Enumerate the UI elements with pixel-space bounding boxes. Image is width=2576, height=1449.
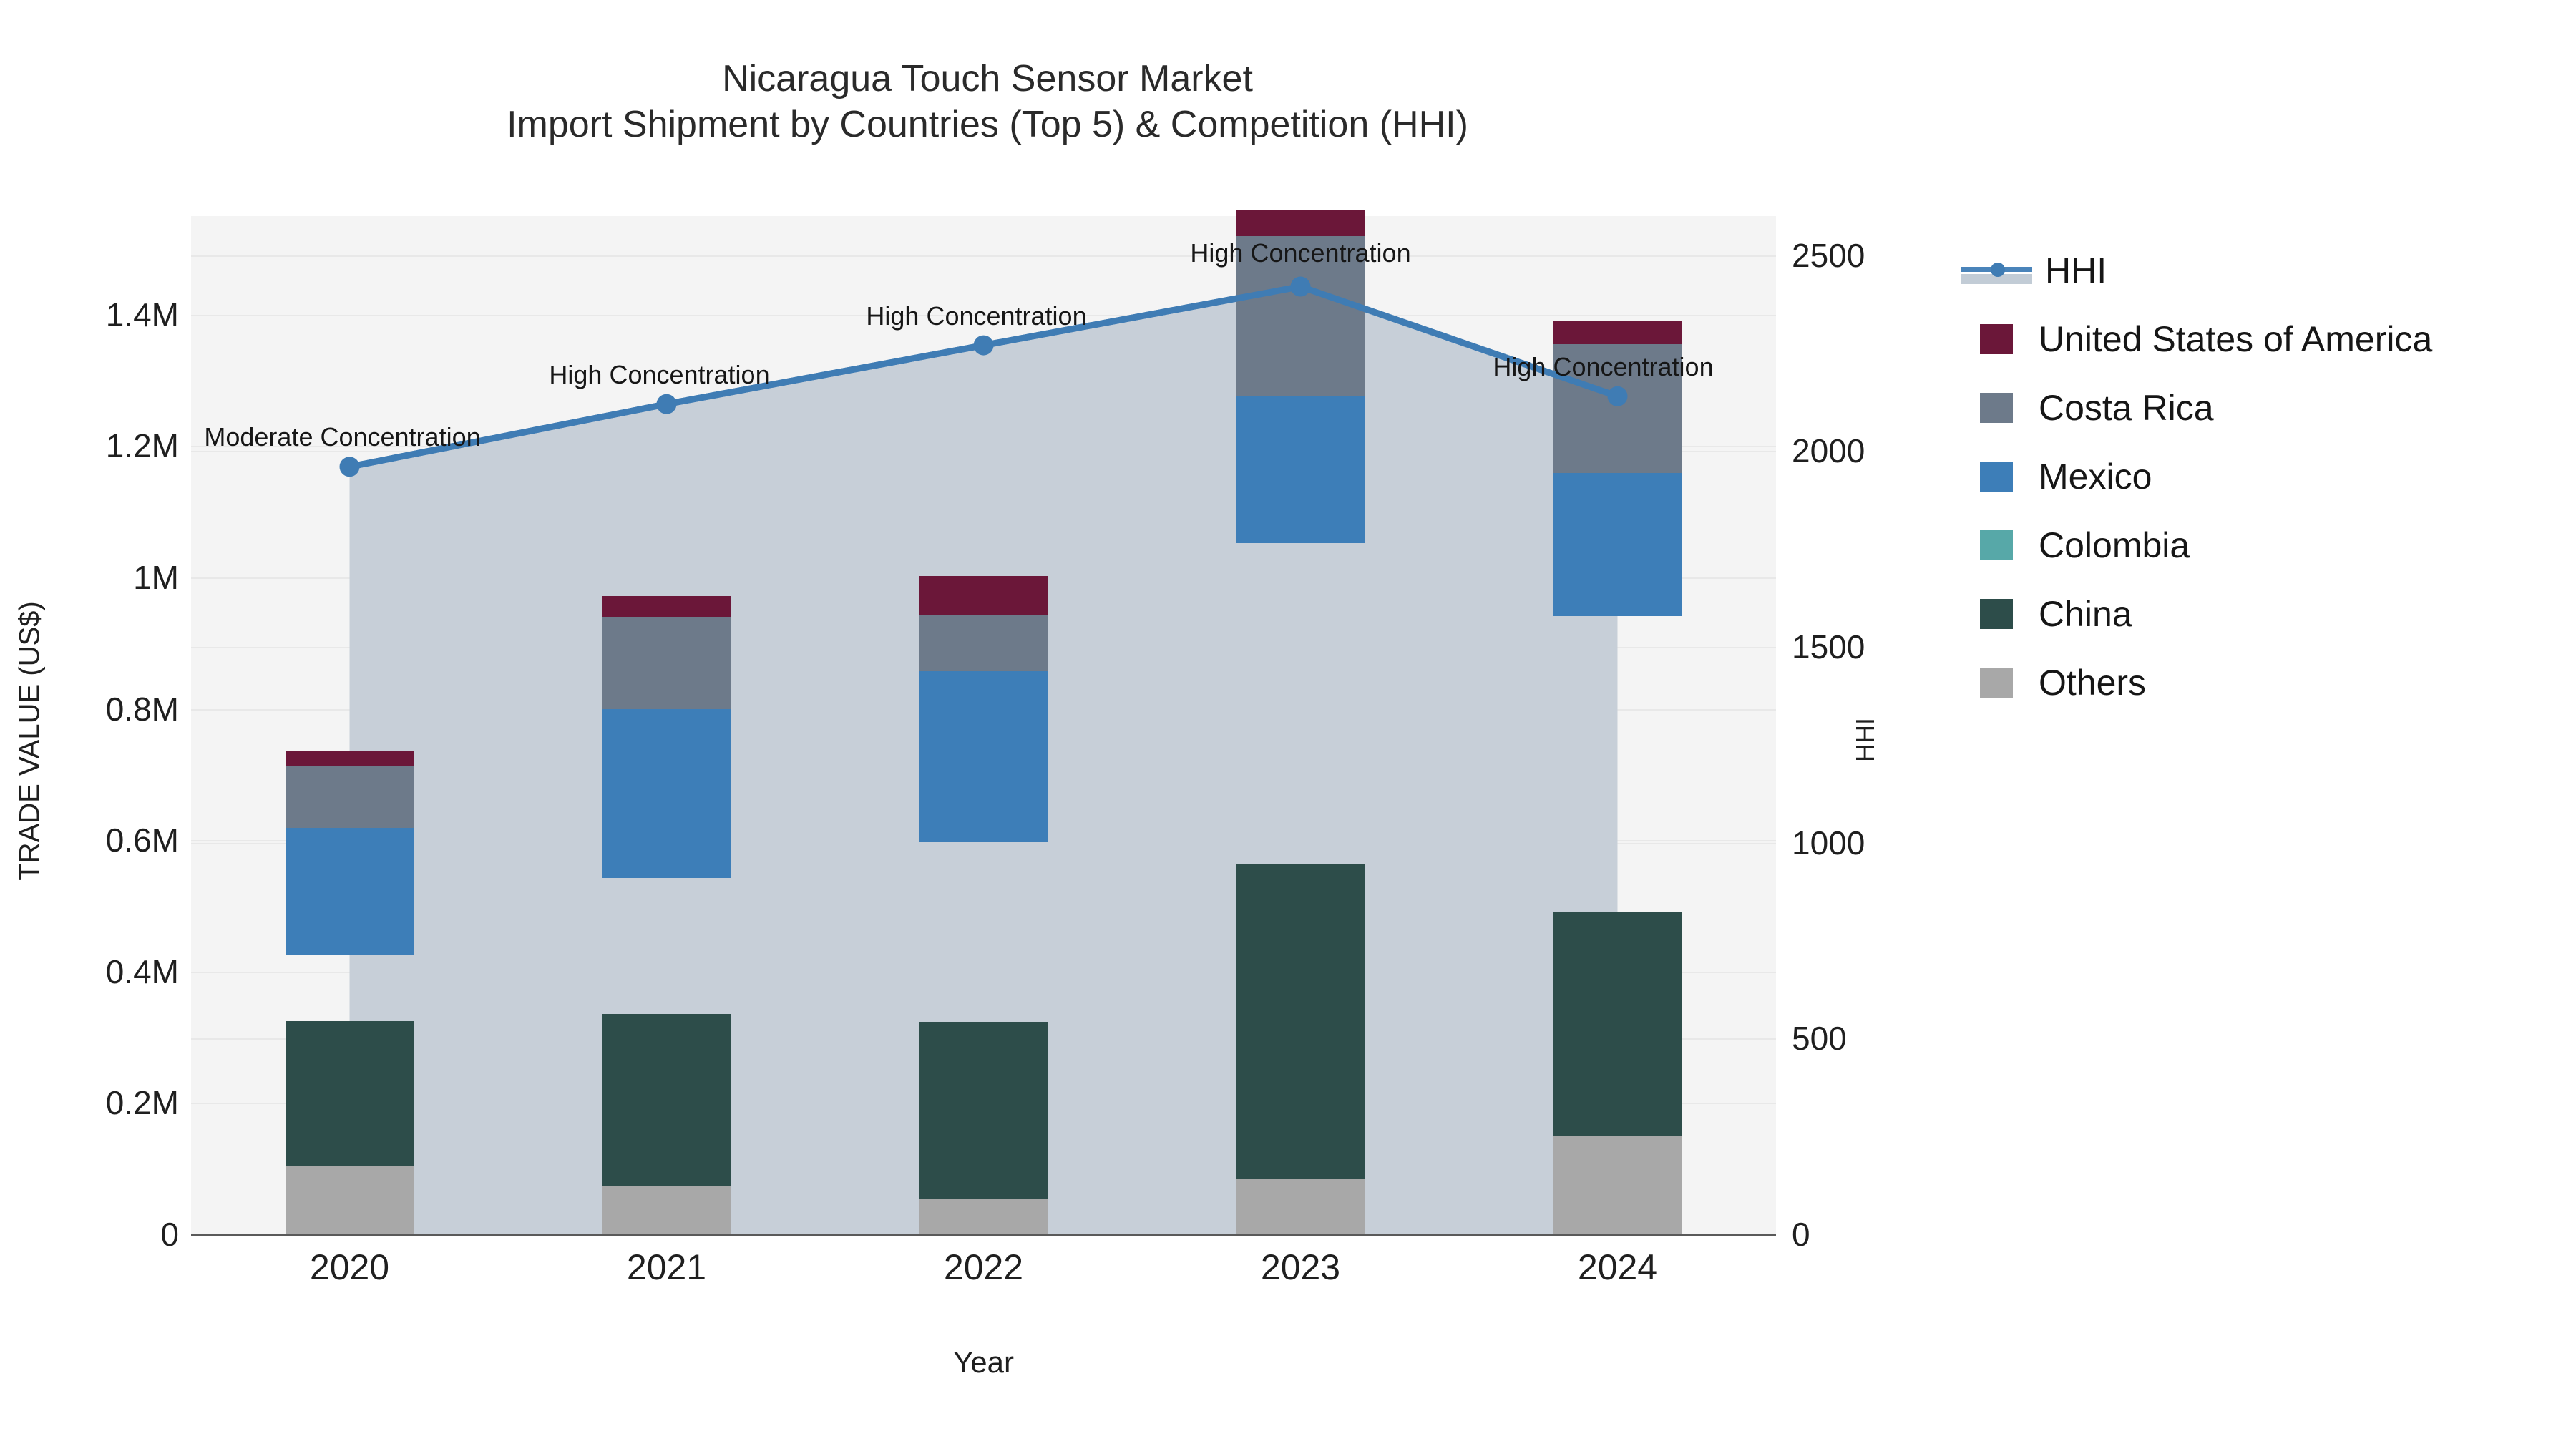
legend-item-united-states-of-america[interactable]: United States of America xyxy=(1961,305,2562,374)
hhi-concentration-annotation: Moderate Concentration xyxy=(204,422,480,452)
y-axis-left-tick-label: 0.2M xyxy=(0,1083,179,1122)
y-axis-right-tick-label: 2500 xyxy=(1792,236,1865,275)
hhi-concentration-annotation: High Concentration xyxy=(1493,352,1713,382)
hhi-line-swatch-icon xyxy=(1961,255,2032,286)
y-axis-right-tick-label: 0 xyxy=(1792,1215,1810,1254)
legend-color-swatch-icon xyxy=(1980,599,2013,629)
legend-item-hhi[interactable]: HHI xyxy=(1961,236,2562,305)
y-axis-right-tick-label: 500 xyxy=(1792,1019,1847,1058)
legend-label: Costa Rica xyxy=(2039,387,2214,429)
y-axis-left-title: TRADE VALUE (US$) xyxy=(14,541,47,942)
legend-color-swatch-icon xyxy=(1980,393,2013,423)
legend-color-swatch-icon xyxy=(1980,324,2013,354)
legend-label: HHI xyxy=(2045,250,2107,291)
legend-item-mexico[interactable]: Mexico xyxy=(1961,442,2562,511)
x-axis-tick-label: 2021 xyxy=(627,1246,706,1288)
legend: HHIUnited States of AmericaCosta RicaMex… xyxy=(1961,236,2562,717)
legend-color-swatch-icon xyxy=(1980,668,2013,698)
y-axis-left-tick-label: 1.4M xyxy=(0,296,179,334)
chart-title-block: Nicaragua Touch Sensor Market Import Shi… xyxy=(0,56,1975,148)
legend-label: Others xyxy=(2039,662,2146,703)
y-axis-right-tick-label: 2000 xyxy=(1792,431,1865,470)
legend-item-china[interactable]: China xyxy=(1961,580,2562,648)
hhi-point-marker[interactable] xyxy=(1608,386,1628,406)
hhi-point-marker[interactable] xyxy=(974,336,994,356)
x-axis-tick-label: 2023 xyxy=(1261,1246,1340,1288)
legend-label: United States of America xyxy=(2039,318,2432,360)
x-axis-tick-label: 2024 xyxy=(1578,1246,1657,1288)
legend-label: Colombia xyxy=(2039,525,2190,566)
y-axis-left-tick-label: 0.4M xyxy=(0,952,179,991)
x-axis-tick-label: 2022 xyxy=(944,1246,1023,1288)
legend-label: China xyxy=(2039,593,2132,635)
hhi-point-marker[interactable] xyxy=(1291,277,1311,297)
hhi-point-marker[interactable] xyxy=(657,394,677,414)
chart-canvas: Nicaragua Touch Sensor Market Import Shi… xyxy=(0,0,2576,1449)
legend-color-swatch-icon xyxy=(1980,462,2013,492)
y-axis-left-tick-label: 1.2M xyxy=(0,426,179,465)
legend-item-colombia[interactable]: Colombia xyxy=(1961,511,2562,580)
hhi-concentration-annotation: High Concentration xyxy=(1190,238,1410,268)
hhi-concentration-annotation: High Concentration xyxy=(866,301,1086,331)
chart-subtitle: Import Shipment by Countries (Top 5) & C… xyxy=(0,102,1975,147)
hhi-concentration-annotation: High Concentration xyxy=(549,360,769,390)
legend-item-others[interactable]: Others xyxy=(1961,648,2562,717)
chart-title: Nicaragua Touch Sensor Market xyxy=(0,56,1975,102)
hhi-point-marker[interactable] xyxy=(340,457,360,477)
legend-item-costa-rica[interactable]: Costa Rica xyxy=(1961,374,2562,442)
y-axis-left-tick-label: 0 xyxy=(0,1215,179,1254)
x-axis-line xyxy=(191,1234,1776,1236)
x-axis-title: Year xyxy=(191,1345,1776,1380)
legend-color-swatch-icon xyxy=(1980,530,2013,560)
x-axis-tick-label: 2020 xyxy=(310,1246,389,1288)
y-axis-right-title: HHI xyxy=(1850,625,1880,854)
legend-label: Mexico xyxy=(2039,456,2152,497)
